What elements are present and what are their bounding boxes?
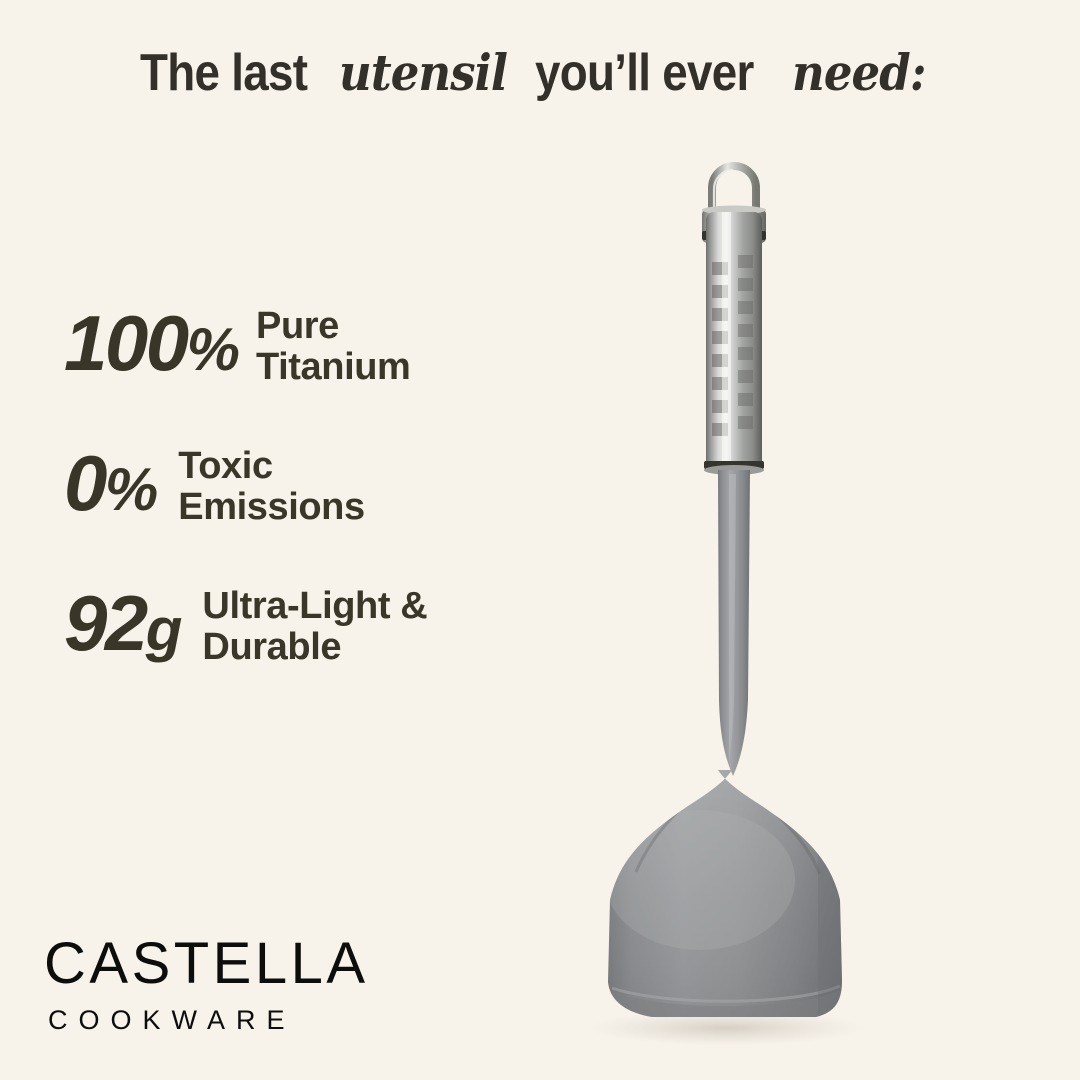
metal-cap <box>702 209 766 243</box>
headline-part-2: utensil <box>339 45 507 101</box>
headline-part-4: need: <box>792 45 926 101</box>
handle-lower-ring <box>704 461 764 469</box>
stats-list: 100% PureTitanium 0% ToxicEmissions 92g … <box>64 300 584 720</box>
blade-right-crease <box>752 792 820 874</box>
grip-groove-texture <box>712 255 753 436</box>
stat-item-weight: 92g Ultra-Light &Durable <box>64 580 584 668</box>
stat-unit: % <box>187 316 238 383</box>
blade-shading <box>600 760 860 1030</box>
stat-label-line1: Pure <box>256 305 339 347</box>
stat-label-line1: Ultra-Light & <box>202 585 427 627</box>
page-title: The lastutensilyou’ll everneed: <box>0 44 1080 102</box>
blade-left-crease <box>636 790 700 872</box>
blade-bottom-edge-light <box>612 986 840 1001</box>
grip-handle <box>706 212 762 474</box>
hanging-loop-icon <box>712 166 756 218</box>
blade-right-edge-shadow <box>818 820 844 1025</box>
stat-item-pure-titanium: 100% PureTitanium <box>64 300 584 388</box>
stat-unit: % <box>105 456 156 523</box>
stat-label-line1: Toxic <box>178 445 272 487</box>
ring-band-sheen <box>716 232 732 239</box>
brand-tagline: COOKWARE <box>48 1007 369 1034</box>
stat-value: 92g <box>64 580 180 661</box>
brand-name: CASTELLA <box>44 935 369 993</box>
shaft <box>718 470 750 776</box>
stat-item-toxic-emissions: 0% ToxicEmissions <box>64 440 584 528</box>
handle-highlight <box>722 212 731 474</box>
handle-bottom-edge <box>704 465 764 475</box>
ring-band <box>702 231 766 240</box>
stat-label: ToxicEmissions <box>178 440 364 528</box>
product-poster: The lastutensilyou’ll everneed: 100% Pur… <box>0 0 1080 1080</box>
headline-part-1: The last <box>140 44 307 102</box>
cap-top-edge <box>702 206 766 215</box>
stat-label-line2: Titanium <box>256 346 410 388</box>
stat-value: 0% <box>64 440 156 521</box>
product-shadow <box>588 1010 864 1046</box>
stat-value: 100% <box>64 300 238 381</box>
stat-label-line2: Emissions <box>178 486 364 528</box>
brand-logo: CASTELLA COOKWARE <box>44 935 369 1034</box>
stat-label: Ultra-Light &Durable <box>202 580 427 668</box>
headline-part-3: you’ll ever <box>535 44 754 102</box>
stat-label: PureTitanium <box>256 300 410 388</box>
stat-label-line2: Durable <box>202 626 341 668</box>
stat-number: 100 <box>64 299 187 387</box>
hanging-loop-highlight <box>714 170 732 216</box>
blade-bottom-bevel <box>606 988 844 1022</box>
shaft-highlight <box>729 474 736 762</box>
stat-unit: g <box>146 596 181 663</box>
stat-number: 0 <box>64 439 105 527</box>
blade-sheen <box>605 810 795 950</box>
stat-number: 92 <box>64 579 146 667</box>
blade <box>608 770 842 1017</box>
